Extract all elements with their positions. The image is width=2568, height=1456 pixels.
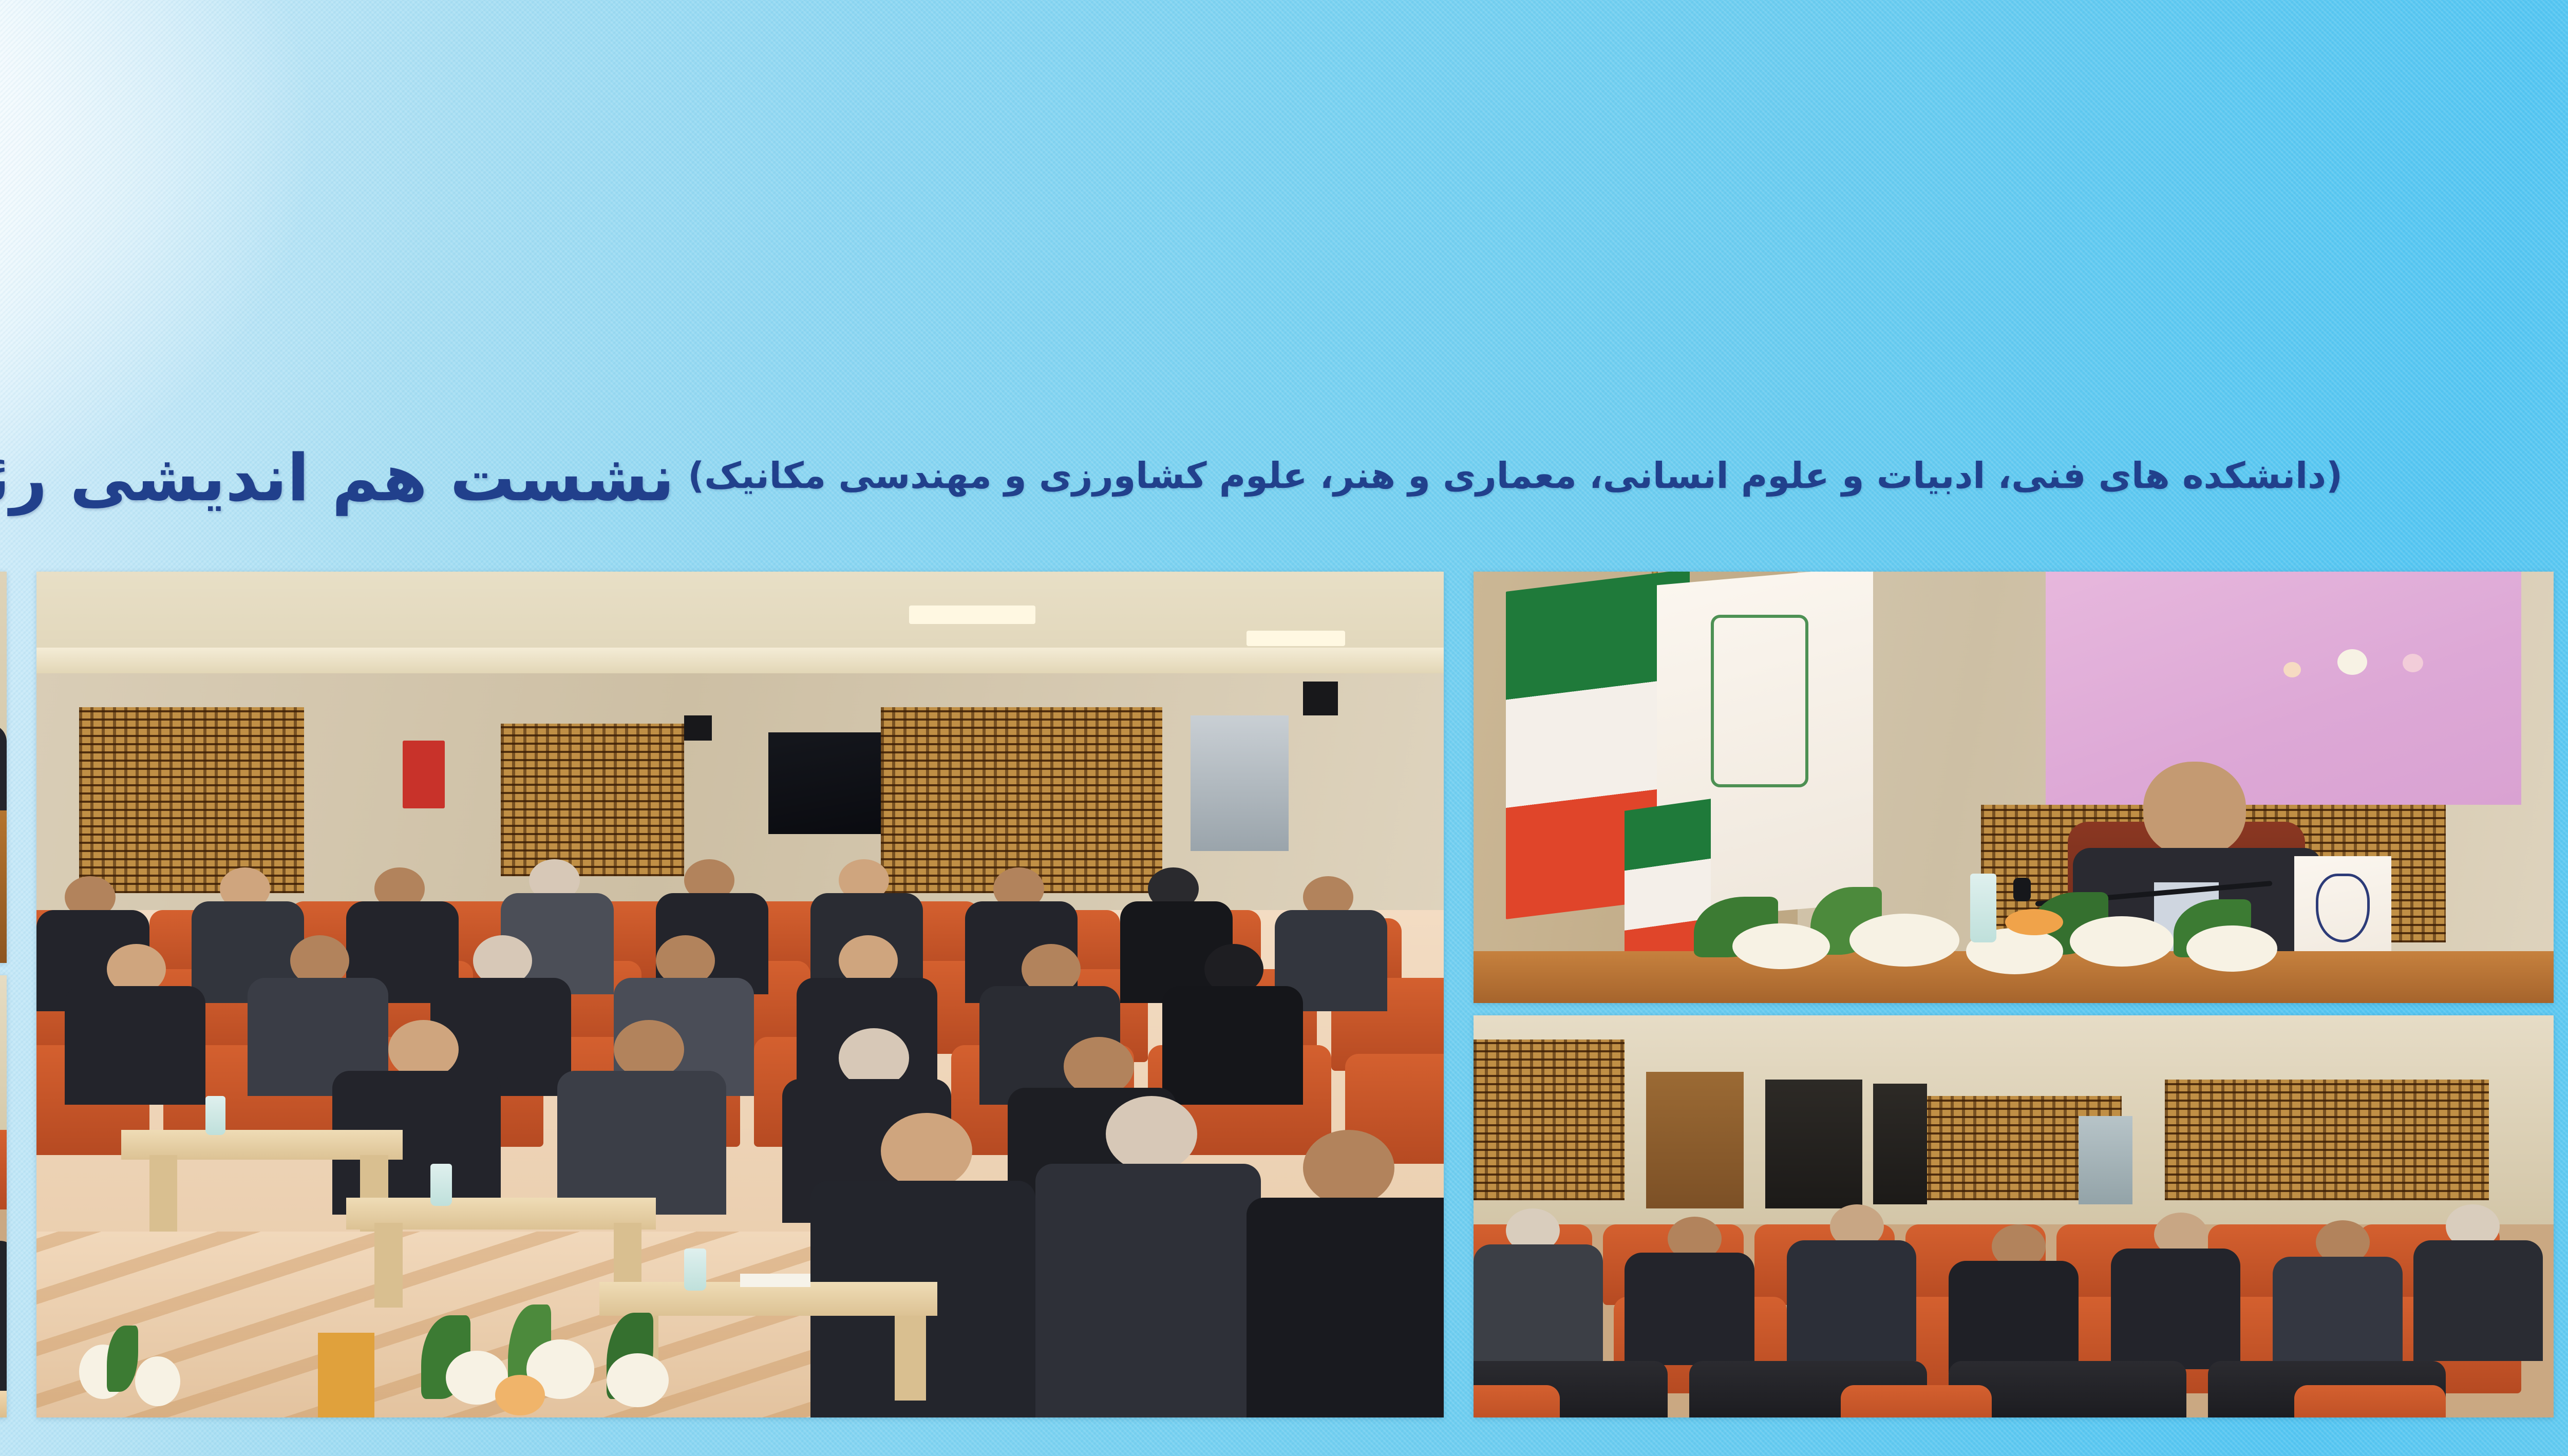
photo-audience-and-speaker — [0, 572, 7, 963]
banner-header: دانشگاه گیلان روابط عمومی دانشگاه گیلان … — [0, 0, 2568, 555]
headline-main-title: نشست هم اندیشی رئیس دانشگاه با اعضای هیا… — [0, 446, 674, 510]
photo-collage — [0, 572, 2554, 1417]
collage-middle-column — [36, 572, 1443, 1417]
collage-right-column — [0, 572, 7, 1417]
photo-main-hall-audience — [36, 572, 1443, 1417]
photo-speaker-at-podium — [1474, 572, 2554, 1003]
photo-audience-left — [1474, 1015, 2554, 1417]
headline-row: نشست هم اندیشی رئیس دانشگاه با اعضای هیا… — [0, 414, 2568, 542]
photo-audience-front-rows — [0, 975, 7, 1417]
event-banner: دانشگاه گیلان روابط عمومی دانشگاه گیلان … — [0, 0, 2568, 1456]
headline-subtitle: (دانشکده های فنی، ادبیات و علوم انسانی، … — [688, 458, 2343, 499]
collage-left-column — [1474, 572, 2554, 1417]
